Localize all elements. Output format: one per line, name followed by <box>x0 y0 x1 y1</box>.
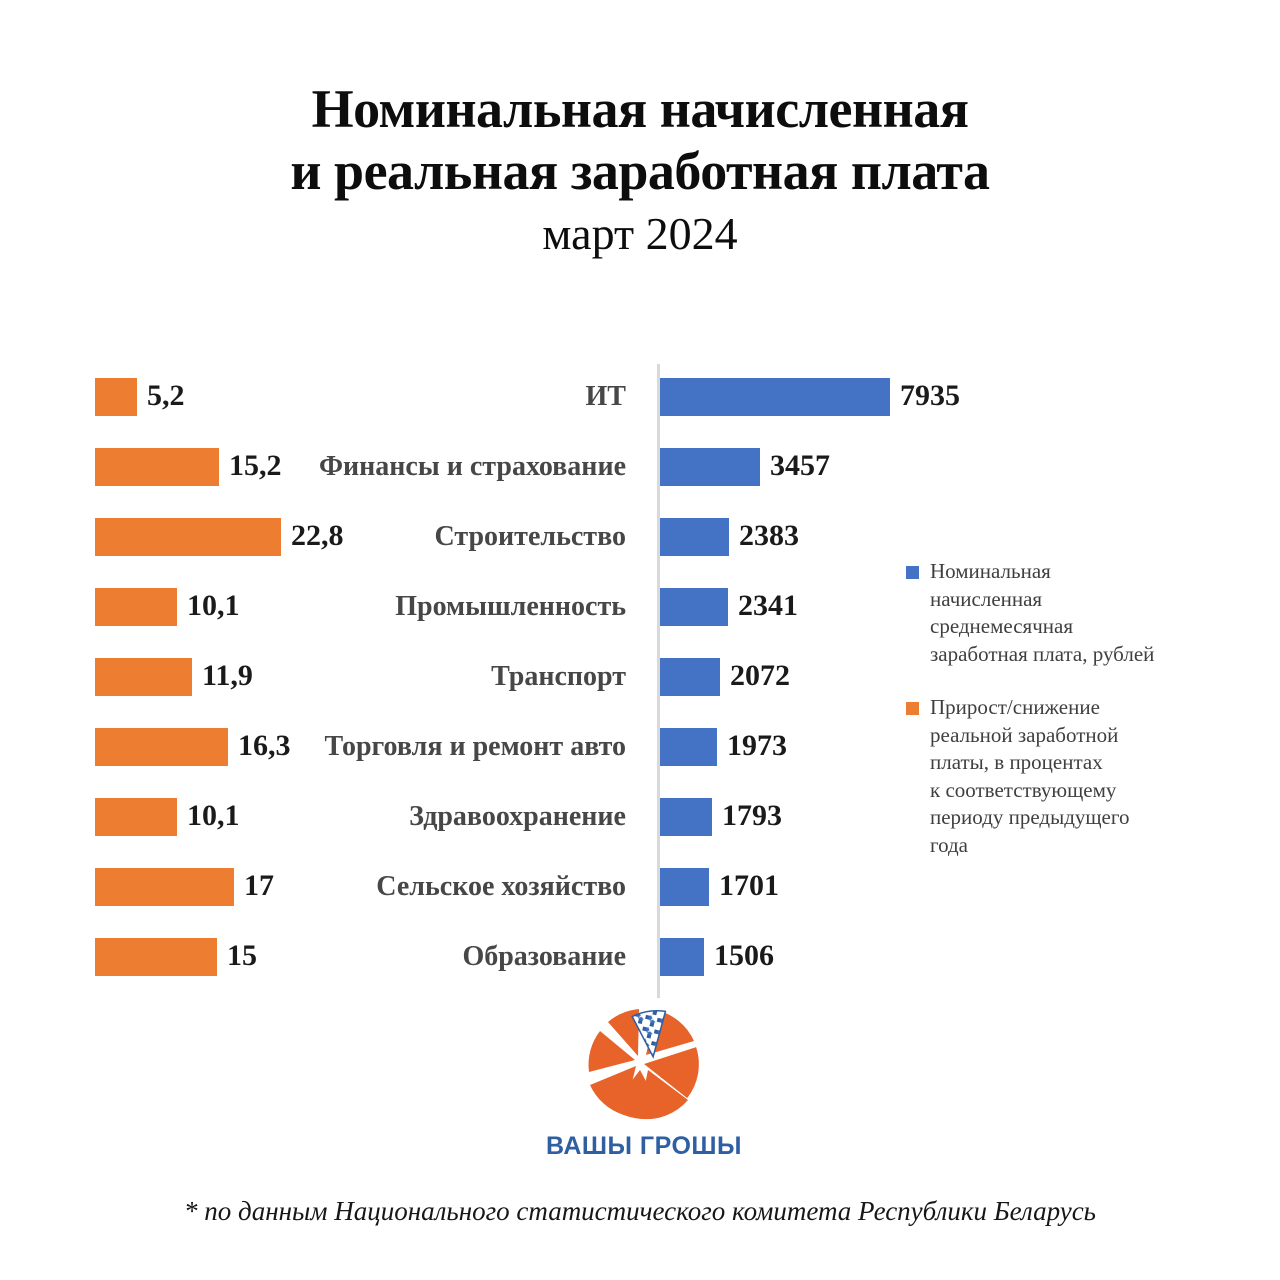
category-label: Транспорт <box>106 656 626 698</box>
row-left-section: 17Сельское хозяйство <box>0 852 640 922</box>
nominal-salary-value: 2341 <box>738 585 798 627</box>
category-label: Финансы и страхование <box>106 446 626 488</box>
row-left-section: 22,8Строительство <box>0 502 640 572</box>
nominal-salary-value: 1973 <box>727 725 787 767</box>
row-right-section: 3457 <box>660 432 1280 502</box>
vashy-hroshy-logo: ВАШЫ ГРОШЫ <box>544 1002 744 1172</box>
nominal-salary-value: 2072 <box>730 655 790 697</box>
nominal-salary-value: 1793 <box>722 795 782 837</box>
nominal-salary-bar <box>660 868 709 906</box>
row-left-section: 5,2ИТ <box>0 362 640 432</box>
chart-legend: Номинальная начисленная среднемесячная з… <box>906 558 1206 885</box>
nominal-salary-value: 7935 <box>900 375 960 417</box>
row-left-section: 15Образование <box>0 922 640 992</box>
row-left-section: 10,1Промышленность <box>0 572 640 642</box>
page-title: Номинальная начисленная и реальная зараб… <box>0 78 1280 264</box>
category-label: ИТ <box>106 376 626 418</box>
subtitle-period: март 2024 <box>0 204 1280 264</box>
row-right-section: 1506 <box>660 922 1280 992</box>
nominal-salary-bar <box>660 518 729 556</box>
logo-wheel-icon <box>544 1002 744 1130</box>
nominal-salary-bar <box>660 378 890 416</box>
chart-row: 15Образование1506 <box>0 922 1280 992</box>
nominal-salary-bar <box>660 798 712 836</box>
logo-wordmark: ВАШЫ ГРОШЫ <box>544 1132 744 1161</box>
row-left-section: 11,9Транспорт <box>0 642 640 712</box>
category-label: Сельское хозяйство <box>106 866 626 908</box>
legend-item-nominal-label: Номинальная начисленная среднемесячная з… <box>930 559 1154 666</box>
title-line-1: Номинальная начисленная <box>0 78 1280 140</box>
nominal-salary-bar <box>660 448 760 486</box>
source-footnote: * по данным Национального статистическог… <box>0 1196 1280 1227</box>
nominal-salary-value: 2383 <box>739 515 799 557</box>
legend-item-nominal: Номинальная начисленная среднемесячная з… <box>906 558 1206 668</box>
row-right-section: 7935 <box>660 362 1280 432</box>
title-line-2: и реальная заработная плата <box>0 140 1280 202</box>
category-label: Здравоохранение <box>106 796 626 838</box>
row-left-section: 15,2Финансы и страхование <box>0 432 640 502</box>
legend-orange-square-icon <box>906 702 919 715</box>
chart-row: 5,2ИТ7935 <box>0 362 1280 432</box>
nominal-salary-bar <box>660 728 717 766</box>
nominal-salary-value: 1506 <box>714 935 774 977</box>
row-left-section: 16,3Торговля и ремонт авто <box>0 712 640 782</box>
chart-row: 15,2Финансы и страхование3457 <box>0 432 1280 502</box>
nominal-salary-value: 1701 <box>719 865 779 907</box>
category-label: Торговля и ремонт авто <box>106 726 626 768</box>
legend-item-real-change-label: Прирост/снижение реальной заработной пла… <box>930 695 1129 857</box>
category-label: Образование <box>106 936 626 978</box>
nominal-salary-bar <box>660 588 728 626</box>
nominal-salary-bar <box>660 938 704 976</box>
nominal-salary-value: 3457 <box>770 445 830 487</box>
category-label: Строительство <box>106 516 626 558</box>
row-left-section: 10,1Здравоохранение <box>0 782 640 852</box>
legend-blue-square-icon <box>906 566 919 579</box>
category-label: Промышленность <box>106 586 626 628</box>
nominal-salary-bar <box>660 658 720 696</box>
legend-item-real-change: Прирост/снижение реальной заработной пла… <box>906 694 1206 859</box>
